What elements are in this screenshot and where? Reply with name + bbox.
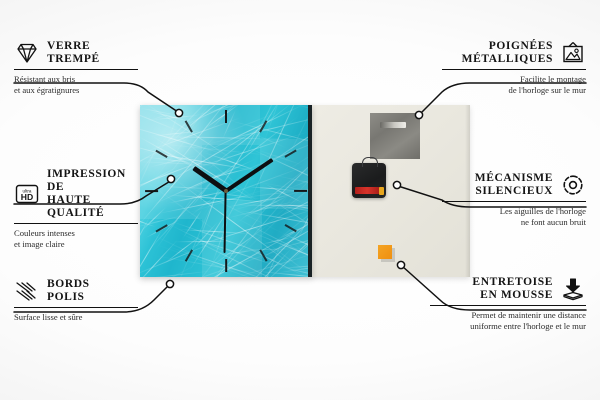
hour-marker xyxy=(294,190,307,192)
callout-title: BORDS POLIS xyxy=(47,278,90,304)
callout-rule xyxy=(14,223,138,224)
callout-title: POIGNÉES MÉTALLIQUES xyxy=(462,40,553,66)
polished-edges-icon xyxy=(14,280,40,302)
hanger-slot xyxy=(380,122,406,128)
callout-header: ultra HD IMPRESSION DE HAUTE QUALITÉ xyxy=(14,168,138,220)
clock-face xyxy=(140,105,312,277)
gear-icon xyxy=(560,173,586,197)
callout-mecanisme-silencieux: MÉCANISME SILENCIEUX Les aiguilles de l'… xyxy=(442,172,586,227)
callout-description: Permet de maintenir une distance uniform… xyxy=(430,310,586,331)
quartz-movement xyxy=(352,163,386,198)
callout-impression-hd: ultra HD IMPRESSION DE HAUTE QUALITÉ Cou… xyxy=(14,168,138,249)
callout-rule xyxy=(14,69,138,70)
callout-rule xyxy=(442,201,586,202)
callout-description: Surface lisse et sûre xyxy=(14,312,138,323)
foam-spacer xyxy=(378,245,392,259)
callout-title: IMPRESSION DE HAUTE QUALITÉ xyxy=(47,168,138,220)
hour-marker xyxy=(145,190,158,192)
hour-marker xyxy=(225,259,227,272)
callout-entretoise-en-mousse: ENTRETOISE EN MOUSSE Permet de maintenir… xyxy=(430,276,586,331)
battery-terminal xyxy=(379,187,384,195)
callout-header: MÉCANISME SILENCIEUX xyxy=(442,172,586,198)
callout-description: Facilite le montage de l'horloge sur le … xyxy=(442,74,586,95)
hands-cap xyxy=(224,189,228,193)
callout-header: POIGNÉES MÉTALLIQUES xyxy=(442,40,586,66)
callout-verre-trempe: VERRE TREMPÉ Résistant aux bris et aux é… xyxy=(14,40,138,95)
picture-frame-hook-icon xyxy=(560,41,586,65)
callout-description: Couleurs intenses et image claire xyxy=(14,228,138,249)
diamond-icon xyxy=(14,42,40,64)
hanging-loop xyxy=(362,157,378,167)
hour-marker xyxy=(225,110,227,123)
product-photo xyxy=(140,105,470,277)
callout-title: VERRE TREMPÉ xyxy=(47,40,100,66)
battery xyxy=(355,187,382,194)
callout-rule xyxy=(442,69,586,70)
metal-hanger-plate xyxy=(370,113,420,159)
callout-title: ENTRETOISE EN MOUSSE xyxy=(472,276,553,302)
callout-description: Résistant aux bris et aux égratignures xyxy=(14,74,138,95)
callout-header: VERRE TREMPÉ xyxy=(14,40,138,66)
callout-header: BORDS POLIS xyxy=(14,278,138,304)
callout-title: MÉCANISME SILENCIEUX xyxy=(475,172,553,198)
connector-dot-bords-polis xyxy=(166,280,173,287)
callout-rule xyxy=(430,305,586,306)
foam-spacer-arrow-icon xyxy=(560,277,586,301)
ultra-hd-icon: ultra HD xyxy=(14,183,40,205)
panel-edge xyxy=(308,105,312,277)
callout-bords-polis: BORDS POLIS Surface lisse et sûre xyxy=(14,278,138,323)
callout-header: ENTRETOISE EN MOUSSE xyxy=(430,276,586,302)
callout-poignees-metalliques: POIGNÉES MÉTALLIQUES Facilite le montage… xyxy=(442,40,586,95)
svg-text:HD: HD xyxy=(21,192,33,202)
callout-description: Les aiguilles de l'horloge ne font aucun… xyxy=(442,206,586,227)
infographic-canvas: VERRE TREMPÉ Résistant aux bris et aux é… xyxy=(0,0,600,400)
callout-rule xyxy=(14,307,138,308)
